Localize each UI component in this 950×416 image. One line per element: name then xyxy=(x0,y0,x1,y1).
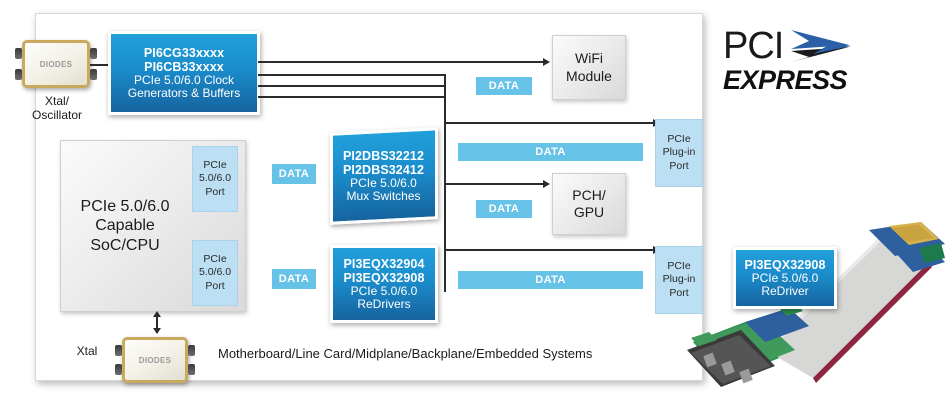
soc-to-xtal-arrow-up xyxy=(153,311,161,317)
data-arrow-soc-to-redriver: DATA xyxy=(258,258,330,300)
redriver-block: PI3EQX32904 PI3EQX32908 PCIe 5.0/6.0 ReD… xyxy=(330,245,438,323)
xtal-bottom-package: DIODES xyxy=(122,337,188,383)
data-arrow-redriver-to-plugin: DATA xyxy=(443,261,658,299)
xtal-pad xyxy=(115,364,122,375)
clock-line-bus-3 xyxy=(258,96,445,98)
xtal-pad xyxy=(90,69,97,80)
clock-line-bus-1 xyxy=(258,74,445,76)
oscillator-to-clockgen-line xyxy=(90,64,110,66)
diodes-brand-mark: DIODES xyxy=(40,60,72,69)
clock-line-wifi-arrowhead xyxy=(543,58,550,66)
wifi-module-block: WiFi Module xyxy=(552,35,626,100)
soc-pcie-port-top: PCIe 5.0/6.0 Port xyxy=(192,146,238,212)
clock-line-bus-2 xyxy=(258,85,445,87)
redriver-card-label: PI3EQX32908 PCIe 5.0/6.0 ReDriver xyxy=(733,247,837,309)
xtal-pad xyxy=(15,69,22,80)
xtal-oscillator-package: DIODES xyxy=(22,40,90,88)
pci-chevron-icon xyxy=(787,26,853,66)
xtal-bottom-label: Xtal xyxy=(62,344,112,358)
data-arrow-pch-gpu: DATA xyxy=(462,190,546,228)
system-caption: Motherboard/Line Card/Midplane/Backplane… xyxy=(218,346,592,361)
clock-line-wifi xyxy=(258,61,546,63)
pci-express-logo: PCI EXPRESS xyxy=(723,25,863,97)
xtal-pad xyxy=(115,345,122,356)
diagram-canvas: DIODES Xtal/ Oscillator PI6CG33xxxx PI6C… xyxy=(0,0,950,416)
clock-branch-plugin-top xyxy=(444,122,656,124)
data-arrow-mux-to-plugin: DATA xyxy=(443,133,658,171)
clock-branch-pch-arrowhead xyxy=(543,180,550,188)
clock-branch-pch xyxy=(444,183,546,185)
xtal-pad xyxy=(90,48,97,59)
xtal-pad xyxy=(188,345,195,356)
diodes-brand-mark: DIODES xyxy=(139,356,171,365)
clock-branch-plugin-bottom xyxy=(444,249,656,251)
xtal-pad xyxy=(15,48,22,59)
soc-pcie-port-bottom: PCIe 5.0/6.0 Port xyxy=(192,240,238,306)
xtal-pad xyxy=(188,364,195,375)
pci-logo-text: PCI xyxy=(723,28,783,64)
data-arrow-soc-to-mux: DATA xyxy=(258,153,330,195)
clock-generator-block: PI6CG33xxxx PI6CB33xxxx PCIe 5.0/6.0 Clo… xyxy=(108,31,260,115)
express-logo-text: EXPRESS xyxy=(723,67,863,94)
data-arrow-wifi: DATA xyxy=(462,67,546,105)
xtal-oscillator-label: Xtal/ Oscillator xyxy=(12,94,102,123)
pcie-plugin-port-top: PCIe Plug-in Port xyxy=(655,119,703,187)
mux-switch-block: PI2DBS32212 PI2DBS32412 PCIe 5.0/6.0 Mux… xyxy=(330,127,438,225)
pch-gpu-block: PCH/ GPU xyxy=(552,173,626,235)
soc-to-xtal-arrow-down xyxy=(153,328,161,334)
